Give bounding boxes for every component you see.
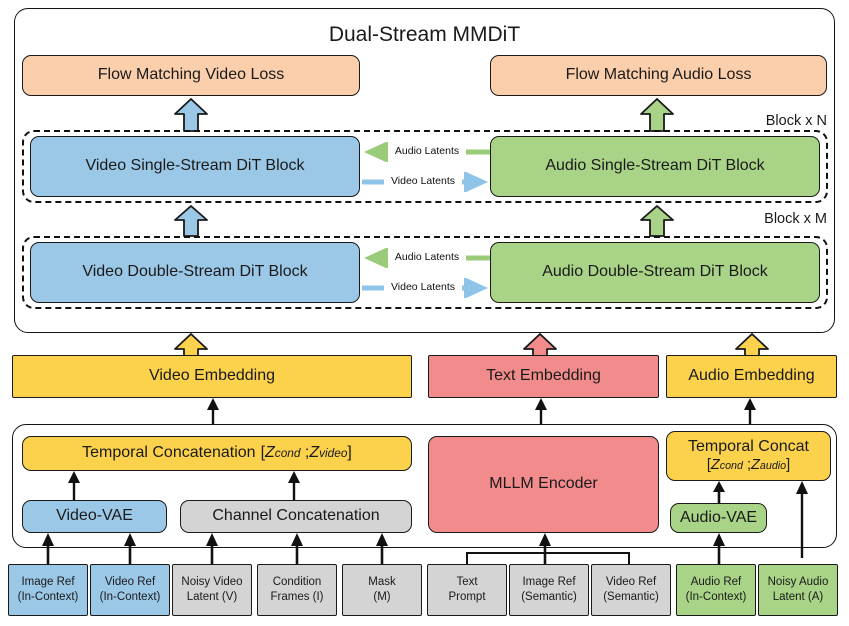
video-single-stream-dit-block: Video Single-Stream DiT Block xyxy=(30,136,360,197)
arrow-mllm-to-text-embedding xyxy=(533,398,549,426)
arrow-audio-double-to-single xyxy=(640,205,674,237)
input-label-line2: Latent (A) xyxy=(773,591,824,604)
audio-vae-box: Audio-VAE xyxy=(670,503,767,533)
audio-single-stream-dit-block: Audio Single-Stream DiT Block xyxy=(490,136,820,197)
input-box-text-prompt: Text Prompt xyxy=(427,564,507,616)
arrow-mask-to-channel-concat xyxy=(374,533,390,566)
input-label-line1: Condition xyxy=(273,576,322,589)
arrow-video-double-to-single xyxy=(174,205,208,237)
input-label-line1: Mask xyxy=(368,576,395,589)
input-box-mask: Mask (M) xyxy=(342,564,422,616)
audio-double-stream-dit-block: Audio Double-Stream DiT Block xyxy=(490,242,820,303)
flow-matching-video-loss-box: Flow Matching Video Loss xyxy=(22,55,360,96)
mllm-bracket-stub-text-prompt xyxy=(466,552,468,564)
mllm-encoder-box: MLLM Encoder xyxy=(428,436,659,533)
input-label-line2: (In-Context) xyxy=(18,591,79,604)
arrow-noisy-video-latent-to-channel-concat xyxy=(204,533,220,566)
video-double-stream-dit-block: Video Double-Stream DiT Block xyxy=(30,242,360,303)
video-embedding-box: Video Embedding xyxy=(12,355,412,398)
arrow-temporal-concat-audio-to-audio-embedding xyxy=(742,398,758,426)
input-label-line2: Prompt xyxy=(448,591,485,604)
input-label-line2: (In-Context) xyxy=(100,591,161,604)
arrow-channel-concat-to-temporal-concat xyxy=(286,471,302,500)
arrow-semantic-inputs-to-mllm xyxy=(537,533,553,566)
input-box-video-ref-in-context: Video Ref (In-Context) xyxy=(90,564,170,616)
input-label-line1: Noisy Video xyxy=(181,576,242,589)
input-label-line1: Text xyxy=(456,576,477,589)
arrow-noisy-audio-latent-to-temporal-concat xyxy=(794,481,810,558)
input-box-video-ref-semantic: Video Ref (Semantic) xyxy=(591,564,671,616)
text-embedding-box: Text Embedding xyxy=(428,355,659,398)
temporal-concat-audio-box: Temporal Concat [Zcond ;Zaudio] xyxy=(666,431,831,481)
arrow-video-vae-to-temporal-concat xyxy=(66,471,82,500)
input-label-line2: (In-Context) xyxy=(686,591,747,604)
flow-matching-audio-loss-box: Flow Matching Audio Loss xyxy=(490,55,827,96)
mllm-bracket-stub-video-ref-semantic xyxy=(628,552,630,564)
temporal-concat-video-math: [Zcond ;Zvideo] xyxy=(261,444,352,462)
audio-latents-label-double: Audio Latents xyxy=(388,251,466,265)
input-label-line1: Audio Ref xyxy=(691,576,742,589)
page-title: Dual-Stream MMDiT xyxy=(14,20,835,50)
input-label-line1: Noisy Audio xyxy=(768,576,829,589)
block-x-m-label: Block x M xyxy=(742,210,827,228)
input-box-noisy-audio-latent: Noisy Audio Latent (A) xyxy=(758,564,838,616)
video-latents-label-single: Video Latents xyxy=(384,175,462,189)
arrow-image-ref-incontext-to-video-vae xyxy=(40,533,56,566)
audio-embedding-box: Audio Embedding xyxy=(666,355,837,398)
temporal-concat-audio-math: [Zcond ;Zaudio] xyxy=(707,457,790,474)
input-box-image-ref-in-context: Image Ref (In-Context) xyxy=(8,564,88,616)
input-label-line2: (Semantic) xyxy=(521,591,577,604)
arrow-audio-ref-incontext-to-audio-vae xyxy=(711,533,727,566)
input-label-line2: Frames (I) xyxy=(270,591,323,604)
arrow-audio-single-to-loss xyxy=(640,98,674,132)
input-label-line2: (M) xyxy=(373,591,390,604)
input-label-line1: Video Ref xyxy=(105,576,155,589)
temporal-concat-audio-label: Temporal Concat xyxy=(688,438,809,456)
block-x-n-label: Block x N xyxy=(742,112,827,130)
arrow-temporal-concat-to-video-embedding xyxy=(205,398,221,426)
arrow-condition-frames-to-channel-concat xyxy=(289,533,305,566)
temporal-concatenation-video-box: Temporal Concatenation [Zcond ;Zvideo] xyxy=(22,436,412,471)
temporal-concat-video-label: Temporal Concatenation xyxy=(82,444,255,462)
input-label-line1: Image Ref xyxy=(522,576,575,589)
input-box-audio-ref-in-context: Audio Ref (In-Context) xyxy=(676,564,756,616)
video-latents-label-double: Video Latents xyxy=(384,281,462,295)
input-box-image-ref-semantic: Image Ref (Semantic) xyxy=(509,564,589,616)
input-box-condition-frames: Condition Frames (I) xyxy=(257,564,337,616)
input-label-line1: Image Ref xyxy=(21,576,74,589)
audio-latents-label-single: Audio Latents xyxy=(388,145,466,159)
input-label-line2: (Semantic) xyxy=(603,591,659,604)
input-label-line1: Video Ref xyxy=(606,576,656,589)
input-label-line2: Latent (V) xyxy=(187,591,238,604)
arrow-video-single-to-loss xyxy=(174,98,208,132)
arrow-video-ref-incontext-to-video-vae xyxy=(122,533,138,566)
arrow-audio-vae-to-temporal-concat xyxy=(711,481,727,504)
channel-concatenation-box: Channel Concatenation xyxy=(180,500,412,533)
video-vae-box: Video-VAE xyxy=(22,500,167,533)
architecture-diagram: Dual-Stream MMDiT Flow Matching Video Lo… xyxy=(0,0,849,626)
input-box-noisy-video-latent: Noisy Video Latent (V) xyxy=(172,564,252,616)
